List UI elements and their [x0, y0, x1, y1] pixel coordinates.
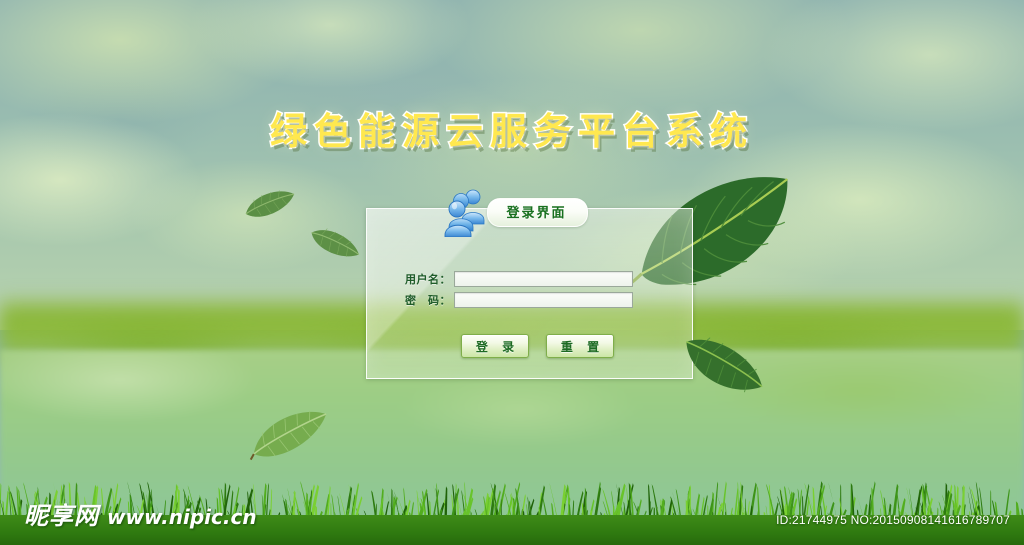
users-icon — [443, 187, 491, 237]
login-button[interactable]: 登 录 — [461, 334, 529, 358]
password-label: 密 码： — [405, 292, 452, 308]
leaf-small-upper-right — [306, 222, 364, 266]
username-input[interactable] — [454, 271, 633, 287]
login-page: 登录界面 用户名： 密 码： 登 录 重 置 — [0, 0, 1024, 545]
password-row: 密 码： — [405, 292, 633, 308]
image-id-text: ID:21744975 NO:20150908141616789707 — [776, 513, 1010, 527]
watermark: 昵享网 www.nipic.cn — [24, 496, 257, 531]
leaf-medium-bottom-right — [672, 334, 768, 408]
watermark-brand: 昵享网 — [24, 496, 99, 531]
watermark-url: www.nipic.cn — [107, 505, 257, 529]
leaf-small-upper-left — [240, 184, 300, 224]
username-label: 用户名： — [405, 271, 452, 287]
reset-button[interactable]: 重 置 — [546, 334, 614, 358]
username-row: 用户名： — [405, 271, 633, 287]
page-title: 绿色能源云服务平台系统 — [0, 101, 1024, 155]
panel-header-label: 登录界面 — [487, 198, 586, 225]
leaf-medium-lower-left — [244, 403, 336, 465]
password-input[interactable] — [454, 292, 633, 308]
